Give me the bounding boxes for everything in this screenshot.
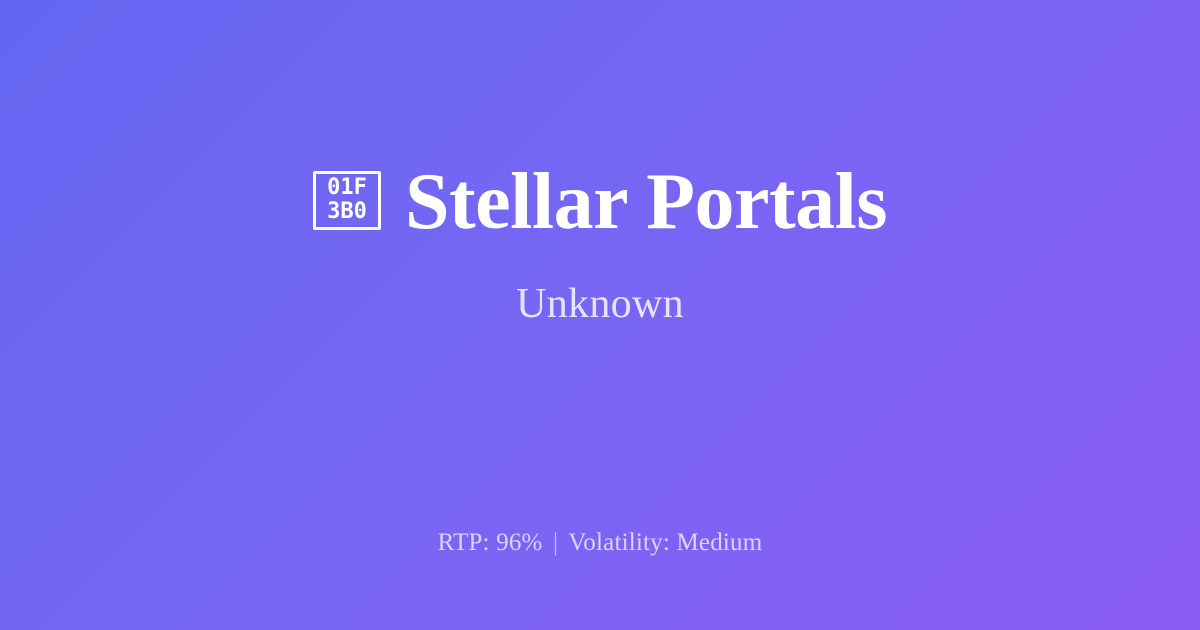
tofu-codepoint-line-1: 01F	[327, 176, 367, 200]
volatility-value: Medium	[676, 529, 762, 556]
headline: 01F 3B0 Stellar Portals	[313, 158, 887, 246]
rtp-value: 96%	[496, 529, 542, 556]
subtitle: Unknown	[516, 280, 684, 328]
tofu-codepoint-line-2: 3B0	[327, 200, 367, 224]
volatility-label: Volatility:	[568, 529, 670, 556]
rtp-label: RTP:	[438, 529, 490, 556]
page-title: Stellar Portals	[405, 158, 887, 246]
og-card: 01F 3B0 Stellar Portals Unknown RTP: 96%…	[0, 0, 1200, 630]
title-block: 01F 3B0 Stellar Portals Unknown	[0, 0, 1200, 494]
meta-line: RTP: 96% | Volatility: Medium	[0, 528, 1200, 558]
meta-separator: |	[549, 529, 562, 556]
slot-machine-icon: 01F 3B0	[313, 171, 381, 230]
